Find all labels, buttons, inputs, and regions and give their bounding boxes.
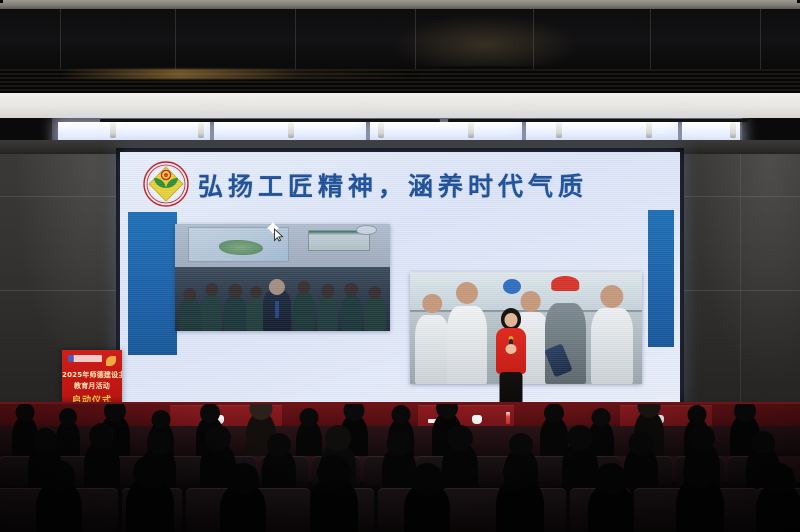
ceiling-trim xyxy=(0,0,800,9)
audience-area xyxy=(0,404,800,532)
banner-line-2: 教育月活动 xyxy=(62,381,122,391)
lighting-track-rail xyxy=(100,119,440,122)
banner-line-1: 2025年师德建设主题 xyxy=(62,370,122,380)
ceiling-white-band xyxy=(0,93,800,118)
move-cursor-icon xyxy=(266,222,286,242)
spotlight-fixture xyxy=(646,122,652,138)
lighting-track-rail xyxy=(448,119,748,122)
slide-title: 弘扬工匠精神，涵养时代气质 xyxy=(198,164,668,206)
slide-accent-bar-left xyxy=(128,212,177,355)
spotlight-fixture xyxy=(730,122,736,138)
ceiling-light-glow xyxy=(390,14,580,66)
spotlight-fixture xyxy=(288,122,294,138)
spotlight-fixture xyxy=(468,122,474,138)
presenter-hands xyxy=(506,344,517,354)
screenshot-root: 弘扬工匠精神，涵养时代气质 xyxy=(0,0,800,532)
wall-right xyxy=(678,140,800,425)
ceiling-slat-reflection xyxy=(60,69,420,79)
banner-org-logo xyxy=(68,355,102,362)
spotlight-fixture xyxy=(110,122,116,138)
spotlight-fixture xyxy=(198,122,204,138)
school-emblem-icon xyxy=(142,160,190,208)
banner-ribbon-icon xyxy=(106,356,116,366)
led-presentation-screen[interactable]: 弘扬工匠精神，涵养时代气质 xyxy=(120,152,680,402)
spotlight-fixture xyxy=(556,122,562,138)
spotlight-fixture xyxy=(378,122,384,138)
presenter-face xyxy=(505,313,518,327)
slide-accent-bar-right xyxy=(648,210,674,347)
